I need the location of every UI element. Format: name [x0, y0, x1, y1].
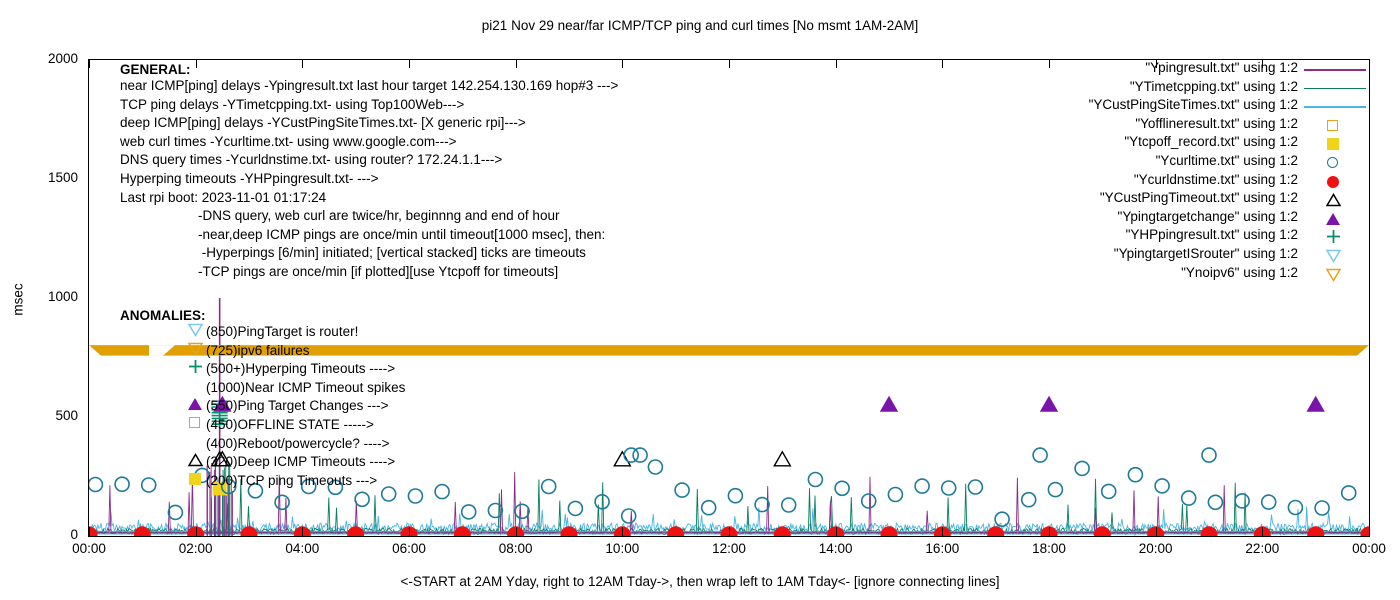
legend-entry[interactable]: "Ypingtargetchange" using 1:2 — [960, 209, 1370, 228]
square-open-icon — [188, 415, 204, 430]
dns-query-time-marker — [347, 526, 364, 537]
x-tick-mark-top — [836, 59, 837, 68]
legend-key — [1300, 209, 1370, 228]
curl-time-outlier-marker — [633, 448, 647, 462]
legend-entry[interactable]: "YCustPingSiteTimes.txt" using 1:2 — [960, 97, 1370, 116]
general-line: TCP ping delays -YTimetcpping.txt- using… — [120, 96, 760, 115]
legend-label: "Ynoipv6" using 1:2 — [1181, 265, 1298, 280]
curl-time-marker — [408, 489, 422, 503]
general-lines: near ICMP[ping] delays -Ypingresult.txt … — [120, 77, 760, 207]
curl-time-marker — [1128, 468, 1142, 482]
x-axis-title: <-START at 2AM Yday, right to 12AM Tday-… — [0, 574, 1400, 589]
curl-time-marker — [355, 492, 369, 506]
curl-time-marker — [568, 501, 582, 515]
x-tick-label: 22:00 — [1222, 541, 1302, 556]
x-tick-mark — [516, 527, 517, 536]
legend-entry[interactable]: "Ynoipv6" using 1:2 — [960, 265, 1370, 284]
curl-time-marker — [622, 509, 636, 523]
legend-key — [1300, 116, 1370, 135]
general-indented-line: -near,deep ICMP pings are once/min until… — [198, 226, 760, 245]
x-tick-mark — [302, 527, 303, 536]
legend-key — [1300, 265, 1370, 284]
anomaly-label: (850)PingTarget is router! — [206, 323, 358, 342]
legend-label: "YCustPingSiteTimes.txt" using 1:2 — [1089, 97, 1298, 112]
square-filled-icon — [188, 471, 204, 486]
deep-icmp-timeout-marker — [614, 452, 630, 466]
x-tick-mark — [622, 527, 623, 536]
legend-label: "YCustPingTimeout.txt" using 1:2 — [1100, 190, 1298, 205]
legend-entry[interactable]: "YCustPingTimeout.txt" using 1:2 — [960, 190, 1370, 209]
circle-open-icon — [1326, 155, 1342, 170]
anomalies-notes: ANOMALIES: (850)PingTarget is router!(72… — [120, 308, 540, 490]
x-tick-label: 16:00 — [902, 541, 982, 556]
legend-key — [1300, 97, 1370, 116]
curl-time-marker — [462, 505, 476, 519]
ping-target-change-marker — [881, 397, 897, 411]
curl-time-marker — [542, 480, 556, 494]
anomaly-label: (450)OFFLINE STATE -----> — [206, 416, 374, 435]
legend: "Ypingresult.txt" using 1:2"YTimetcpping… — [960, 60, 1370, 283]
curl-time-marker — [1102, 484, 1116, 498]
x-tick-label: 18:00 — [1009, 541, 1089, 556]
general-line: near ICMP[ping] delays -Ypingresult.txt … — [120, 77, 760, 96]
legend-label: "Ytcpoff_record.txt" using 1:2 — [1124, 134, 1298, 149]
general-line: deep ICMP[ping] delays -YCustPingSiteTim… — [120, 114, 760, 133]
legend-label: "Ypingresult.txt" using 1:2 — [1145, 60, 1298, 75]
x-tick-label: 20:00 — [1116, 541, 1196, 556]
anomaly-row: (450)OFFLINE STATE -----> — [120, 416, 540, 435]
anomaly-row: (200)TCP ping Timeouts ---> — [120, 472, 540, 491]
curl-time-marker — [702, 501, 716, 515]
anomaly-label: (550)Ping Target Changes ---> — [206, 397, 388, 416]
triangle-down-open-icon — [1326, 267, 1342, 282]
x-tick-label: 06:00 — [369, 541, 449, 556]
deep-icmp-timeout-marker — [774, 452, 790, 466]
legend-entry[interactable]: "Ycurldnstime.txt" using 1:2 — [960, 172, 1370, 191]
general-indented-line: -Hyperpings [6/min] initiated; [vertical… — [198, 244, 760, 263]
anomaly-row: (725)ipv6 failures — [120, 342, 540, 361]
general-heading: GENERAL: — [120, 62, 760, 77]
triangle-down-open-icon — [188, 322, 204, 337]
legend-line-swatch — [1304, 106, 1366, 108]
legend-key — [1300, 246, 1370, 265]
anomaly-label: (200)TCP ping Timeouts ---> — [206, 472, 377, 491]
legend-label: "Ycurldnstime.txt" using 1:2 — [1134, 172, 1298, 187]
legend-line-swatch — [1304, 69, 1366, 71]
curl-time-marker — [808, 473, 822, 487]
legend-label: "YHPpingresult.txt" using 1:2 — [1126, 227, 1298, 242]
square-open-icon — [1326, 118, 1342, 133]
legend-label: "YpingtargetISrouter" using 1:2 — [1114, 246, 1298, 261]
x-tick-mark — [1369, 527, 1370, 536]
x-tick-mark — [196, 527, 197, 536]
chart-page: pi21 Nov 29 near/far ICMP/TCP ping and c… — [0, 0, 1400, 600]
triangle-up-filled-icon — [188, 396, 206, 417]
curl-time-marker — [782, 498, 796, 512]
curl-time-outlier-marker — [1033, 448, 1047, 462]
legend-label: "Ycurltime.txt" using 1:2 — [1156, 153, 1298, 168]
x-tick-label: 08:00 — [476, 541, 556, 556]
general-line: DNS query times -Ycurldnstime.txt- using… — [120, 151, 760, 170]
page-title: pi21 Nov 29 near/far ICMP/TCP ping and c… — [0, 18, 1400, 33]
curl-time-marker — [275, 495, 289, 509]
general-indented-line: -TCP pings are once/min [if plotted][use… — [198, 263, 760, 282]
plus-icon — [188, 359, 204, 374]
triangle-up-open-icon — [188, 452, 206, 473]
general-line: Hyperping timeouts -YHPpingresult.txt- -… — [120, 170, 760, 189]
curl-time-marker — [168, 505, 182, 519]
dns-query-time-marker — [881, 526, 898, 537]
plus-icon — [188, 359, 206, 380]
legend-entry[interactable]: "Ycurltime.txt" using 1:2 — [960, 153, 1370, 172]
x-tick-label: 02:00 — [156, 541, 236, 556]
legend-entry[interactable]: "Yofflineresult.txt" using 1:2 — [960, 116, 1370, 135]
x-tick-mark — [409, 527, 410, 536]
anomaly-row: (400)Reboot/powercycle? ----> — [120, 435, 540, 454]
legend-key — [1300, 134, 1370, 153]
legend-entry[interactable]: "YpingtargetISrouter" using 1:2 — [960, 246, 1370, 265]
curl-time-marker — [1315, 501, 1329, 515]
y-tick-label: 1000 — [8, 289, 78, 304]
x-tick-label: 14:00 — [796, 541, 876, 556]
square-filled-icon — [1326, 136, 1342, 151]
curl-time-marker — [835, 481, 849, 495]
curl-time-marker — [1208, 495, 1222, 509]
general-indented-lines: -DNS query, web curl are twice/hr, begin… — [120, 207, 760, 281]
ping-target-change-marker — [1041, 397, 1057, 411]
anomaly-row: (320)Deep ICMP Timeouts ----> — [120, 453, 540, 472]
curl-time-marker — [995, 512, 1009, 526]
y-tick-label: 0 — [8, 527, 78, 542]
legend-key — [1300, 60, 1370, 79]
x-tick-mark — [942, 527, 943, 536]
curl-time-marker — [1075, 461, 1089, 475]
anomaly-row: (500+)Hyperping Timeouts ----> — [120, 360, 540, 379]
general-notes: GENERAL: near ICMP[ping] delays -Ypingre… — [120, 62, 760, 282]
x-tick-label: 12:00 — [689, 541, 769, 556]
triangle-up-filled-icon — [1326, 211, 1342, 226]
x-tick-label: 00:00 — [1329, 541, 1400, 556]
legend-key — [1300, 153, 1370, 172]
legend-key — [1300, 172, 1370, 191]
legend-key — [1300, 227, 1370, 246]
anomaly-label: (400)Reboot/powercycle? ----> — [206, 435, 389, 454]
x-tick-mark — [836, 527, 837, 536]
anomaly-label: (500+)Hyperping Timeouts ----> — [206, 360, 395, 379]
x-tick-mark-top — [89, 59, 90, 68]
legend-entry[interactable]: "YHPpingresult.txt" using 1:2 — [960, 227, 1370, 246]
x-tick-mark — [1049, 527, 1050, 536]
dns-query-time-marker — [561, 526, 578, 537]
triangle-up-open-icon — [1326, 192, 1342, 207]
triangle-up-filled-icon — [188, 396, 204, 411]
curl-time-marker — [1262, 495, 1276, 509]
curl-time-marker — [942, 481, 956, 495]
x-tick-mark — [729, 527, 730, 536]
legend-entry[interactable]: "YTimetcpping.txt" using 1:2 — [960, 79, 1370, 98]
curl-time-marker — [1048, 483, 1062, 497]
triangle-down-open-icon — [1326, 248, 1342, 263]
general-line: Last rpi boot: 2023-11-01 01:17:24 — [120, 189, 760, 208]
curl-time-marker — [1155, 479, 1169, 493]
curl-time-marker — [1235, 494, 1249, 508]
anomaly-label: (725)ipv6 failures — [206, 342, 310, 361]
dns-query-time-marker — [241, 526, 258, 537]
y-tick-label: 2000 — [8, 51, 78, 66]
plus-icon — [1326, 229, 1342, 244]
anomaly-row: (550)Ping Target Changes ---> — [120, 397, 540, 416]
square-open-icon — [188, 415, 206, 436]
curl-time-marker — [515, 504, 529, 518]
curl-time-marker — [1288, 501, 1302, 515]
general-indented-line: -DNS query, web curl are twice/hr, begin… — [198, 207, 760, 226]
curl-time-marker — [488, 504, 502, 518]
legend-entry[interactable]: "Ytcpoff_record.txt" using 1:2 — [960, 134, 1370, 153]
dns-query-time-marker — [134, 526, 151, 537]
curl-time-marker — [675, 483, 689, 497]
curl-time-marker — [88, 478, 102, 492]
legend-key — [1300, 79, 1370, 98]
anomaly-row: (1000)Near ICMP Timeout spikes — [120, 379, 540, 398]
triangle-down-open-icon — [188, 341, 204, 356]
triangle-down-open-icon — [188, 341, 206, 362]
y-tick-label: 500 — [8, 408, 78, 423]
general-line: web curl times -Ycurltime.txt- using www… — [120, 133, 760, 152]
anomaly-rows: (850)PingTarget is router!(725)ipv6 fail… — [120, 323, 540, 490]
legend-entry[interactable]: "Ypingresult.txt" using 1:2 — [960, 60, 1370, 79]
x-tick-label: 10:00 — [582, 541, 662, 556]
x-tick-mark — [1156, 527, 1157, 536]
square-filled-icon — [188, 471, 206, 492]
curl-time-marker — [888, 488, 902, 502]
x-tick-label: 00:00 — [49, 541, 129, 556]
circle-filled-icon — [1326, 174, 1342, 189]
x-tick-mark — [1262, 527, 1263, 536]
curl-time-marker — [1022, 493, 1036, 507]
curl-time-marker — [862, 494, 876, 508]
x-tick-label: 04:00 — [262, 541, 342, 556]
x-tick-mark — [89, 527, 90, 536]
curl-time-marker — [968, 480, 982, 494]
y-tick-label: 1500 — [8, 170, 78, 185]
ping-target-change-marker — [1308, 397, 1324, 411]
x-tick-mark-top — [942, 59, 943, 68]
triangle-up-open-icon — [188, 452, 204, 467]
anomaly-label: (1000)Near ICMP Timeout spikes — [206, 379, 405, 398]
legend-key — [1300, 190, 1370, 209]
curl-time-marker — [1182, 491, 1196, 505]
anomaly-row: (850)PingTarget is router! — [120, 323, 540, 342]
anomaly-label: (320)Deep ICMP Timeouts ----> — [206, 453, 395, 472]
curl-time-outlier-marker — [1202, 448, 1216, 462]
curl-time-marker — [648, 460, 662, 474]
anomalies-heading: ANOMALIES: — [120, 308, 540, 323]
legend-line-swatch — [1304, 88, 1366, 90]
legend-label: "YTimetcpping.txt" using 1:2 — [1130, 79, 1298, 94]
triangle-down-open-icon — [188, 322, 206, 343]
curl-time-marker — [728, 489, 742, 503]
curl-time-marker — [915, 479, 929, 493]
legend-label: "Yofflineresult.txt" using 1:2 — [1135, 116, 1298, 131]
legend-label: "Ypingtargetchange" using 1:2 — [1118, 209, 1298, 224]
curl-time-marker — [1342, 486, 1356, 500]
